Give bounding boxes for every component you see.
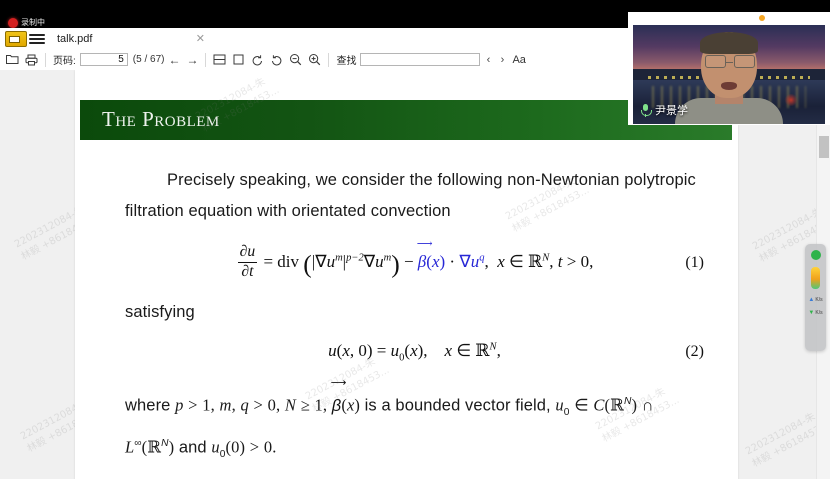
slide-title: The Problem [102,107,220,132]
download-rate-label: K/s [815,311,822,316]
download-rate: ▼ K/s [808,310,822,316]
participant-silhouette [683,32,775,124]
tab-title: talk.pdf [57,33,92,45]
open-folder-icon[interactable] [4,51,21,68]
previous-page-button[interactable]: ← [166,52,182,68]
upload-rate: ▲ K/s [808,297,822,303]
fit-page-icon[interactable] [230,51,247,68]
page-total-label: (5 / 67) [133,54,165,65]
find-next-button[interactable]: › [496,54,508,66]
equation-2-row: u(x, 0) = u0(x), x ∈ ℝN, (2) [125,332,704,372]
equation-1-row: ∂u∂t = div (|∇um|p−2∇um) − ⟶β(x) · ∇uq, … [125,243,704,283]
page-input[interactable] [80,53,128,66]
slide-content: Precisely speaking, we consider the foll… [125,165,704,470]
app-logo-icon [5,31,27,47]
recording-dot-icon [8,18,18,28]
close-icon[interactable]: ✕ [196,32,205,45]
video-pip-panel[interactable]: 尹景学 [628,12,830,125]
upload-arrow-icon: ▲ [808,297,814,303]
zoom-in-icon[interactable] [306,51,323,68]
download-arrow-icon: ▼ [808,310,814,316]
fit-width-icon[interactable] [211,51,228,68]
equation-1: ∂u∂t = div (|∇um|p−2∇um) − ⟶β(x) · ∇uq, … [125,245,704,281]
search-input[interactable] [360,53,480,66]
paragraph-where: where p > 1, m, q > 0, N ≥ 1, ⟶β(x) is a… [125,386,704,470]
toolbar-divider-3 [328,53,329,67]
text-size-button[interactable]: Aa [512,54,525,66]
equation-1-number: (1) [685,254,704,272]
participant-name: 尹景学 [655,102,688,118]
zoom-out-icon[interactable] [287,51,304,68]
toolbar-divider [45,53,46,67]
video-feed[interactable]: 尹景学 [633,25,825,124]
participant-name-badge: 尹景学 [641,102,688,118]
find-label: 查找 [336,52,356,67]
find-previous-button[interactable]: ‹ [482,54,494,66]
print-icon[interactable] [23,51,40,68]
toolbar-divider-2 [205,53,206,67]
status-indicator-icon [811,250,821,260]
equation-2-number: (2) [685,343,704,361]
equation-2: u(x, 0) = u0(x), x ∈ ℝN, [125,341,704,363]
upload-rate-label: K/s [815,298,822,303]
page-label: 页码: [53,52,76,67]
desktop-background: 录制中 talk.pdf ✕ 页码: (5 / 67) [0,0,830,479]
microphone-icon [641,104,650,117]
status-led-icon [759,15,765,21]
menu-icon[interactable] [29,32,45,46]
paragraph-satisfying: satisfying [125,297,704,328]
recording-indicator: 录制中 [8,18,45,28]
next-page-button[interactable]: → [184,52,200,68]
recording-label: 录制中 [21,19,45,27]
tab-talk-pdf[interactable]: talk.pdf ✕ [51,29,213,49]
network-monitor-widget[interactable]: ▲ K/s ▼ K/s [805,244,826,351]
vector-beta-symbol-2: ⟶β [332,389,342,422]
vector-beta-symbol: ⟶β [418,250,426,272]
scrollbar-thumb[interactable] [819,136,829,158]
rotate-left-icon[interactable] [249,51,266,68]
pdf-page: The Problem Precisely speaking, we consi… [75,70,738,479]
document-viewport[interactable]: 2202312084-朱林毅 +8618453... 2202312084-朱林… [0,70,830,479]
background-red-glow [784,94,798,106]
paragraph-intro: Precisely speaking, we consider the foll… [125,165,704,227]
speed-gauge-icon [811,267,820,289]
rotate-right-icon[interactable] [268,51,285,68]
